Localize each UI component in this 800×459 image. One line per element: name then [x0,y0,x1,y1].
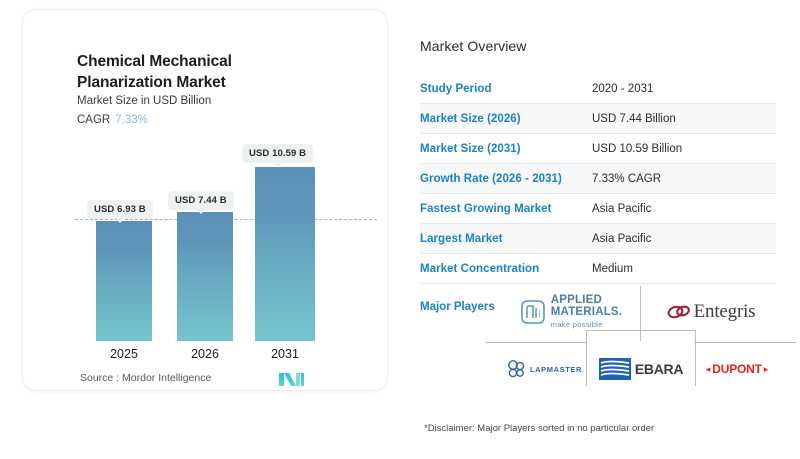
market-infographic: Chemical Mechanical Planarization Market… [0,0,800,459]
row-value: 2020 - 2031 [592,74,776,104]
table-row: Market Concentration Medium [420,254,776,284]
applied-materials-line2: MATERIALS. [551,307,622,319]
bar-2025 [96,221,152,341]
source-text: Source : Mordor Intelligence [80,372,211,384]
lapmaster-icon [506,358,528,380]
row-value: Asia Pacific [592,194,776,224]
ebara-icon [599,358,631,380]
source-row: Source : Mordor Intelligence [23,372,389,392]
row-label: Fastest Growing Market [420,194,592,224]
row-label: Market Size (2026) [420,104,592,134]
x-axis-tick-2026: 2026 [175,347,235,361]
row-label: Market Size (2031) [420,134,592,164]
bar-2031 [255,167,315,341]
lapmaster-text: LAPMASTER [530,365,582,374]
table-row: Largest Market Asia Pacific [420,224,776,254]
applied-materials-tagline: make possible [551,321,622,329]
ebara-text: EBARA [635,361,683,377]
row-value: Asia Pacific [592,224,776,254]
dupont-left-chevron-icon: ◂ [706,364,711,375]
x-axis-tick-2031: 2031 [255,347,315,361]
overview-heading: Market Overview [420,38,784,54]
mordor-intelligence-logo [277,369,307,391]
bar-label-2031: USD 10.59 B [242,144,313,163]
applied-materials-icon [520,299,546,325]
table-row: Fastest Growing Market Asia Pacific [420,194,776,224]
logo-divider-horizontal-right [694,342,796,343]
row-value: 7.33% CAGR [592,164,776,194]
row-value: USD 10.59 Billion [592,134,776,164]
lapmaster-logo: LAPMASTER [500,346,588,392]
bar-label-2026: USD 7.44 B [168,191,234,210]
table-row: Market Size (2026) USD 7.44 Billion [420,104,776,134]
overview-table: Study Period 2020 - 2031 Market Size (20… [420,74,776,284]
row-label: Market Concentration [420,254,592,284]
market-overview-panel: Market Overview Study Period 2020 - 2031… [420,38,784,313]
row-value: Medium [592,254,776,284]
entegris-text: Entegris [694,301,756,323]
table-row: Growth Rate (2026 - 2031) 7.33% CAGR [420,164,776,194]
dupont-right-chevron-icon: ▸ [764,364,769,375]
row-label: Largest Market [420,224,592,254]
ebara-logo: EBARA [596,346,686,392]
entegris-swirl-icon [667,302,691,322]
x-axis-tick-2025: 2025 [94,347,154,361]
row-label: Growth Rate (2026 - 2031) [420,164,592,194]
bar-2026 [177,212,233,341]
row-label: Study Period [420,74,592,104]
applied-materials-logo: APPLIED MATERIALS. make possible [506,286,636,338]
dupont-text: DUPONT [712,362,761,376]
disclaimer-text: *Disclaimer: Major Players sorted in no … [424,423,654,434]
table-row: Market Size (2031) USD 10.59 Billion [420,134,776,164]
entegris-logo: Entegris [646,286,776,338]
bar-chart-plot: USD 6.93 B USD 7.44 B USD 10.59 B 2025 2… [23,10,389,392]
bar-label-2025: USD 6.93 B [87,200,153,219]
logo-divider-vertical-top [640,286,641,341]
logo-divider-horizontal-left [486,342,586,343]
chart-card: Chemical Mechanical Planarization Market… [22,9,388,391]
row-value: USD 7.44 Billion [592,104,776,134]
dupont-logo: ◂ DUPONT ▸ [694,346,780,392]
table-row: Study Period 2020 - 2031 [420,74,776,104]
major-players-logo-grid: APPLIED MATERIALS. make possible Entegri… [500,286,782,396]
